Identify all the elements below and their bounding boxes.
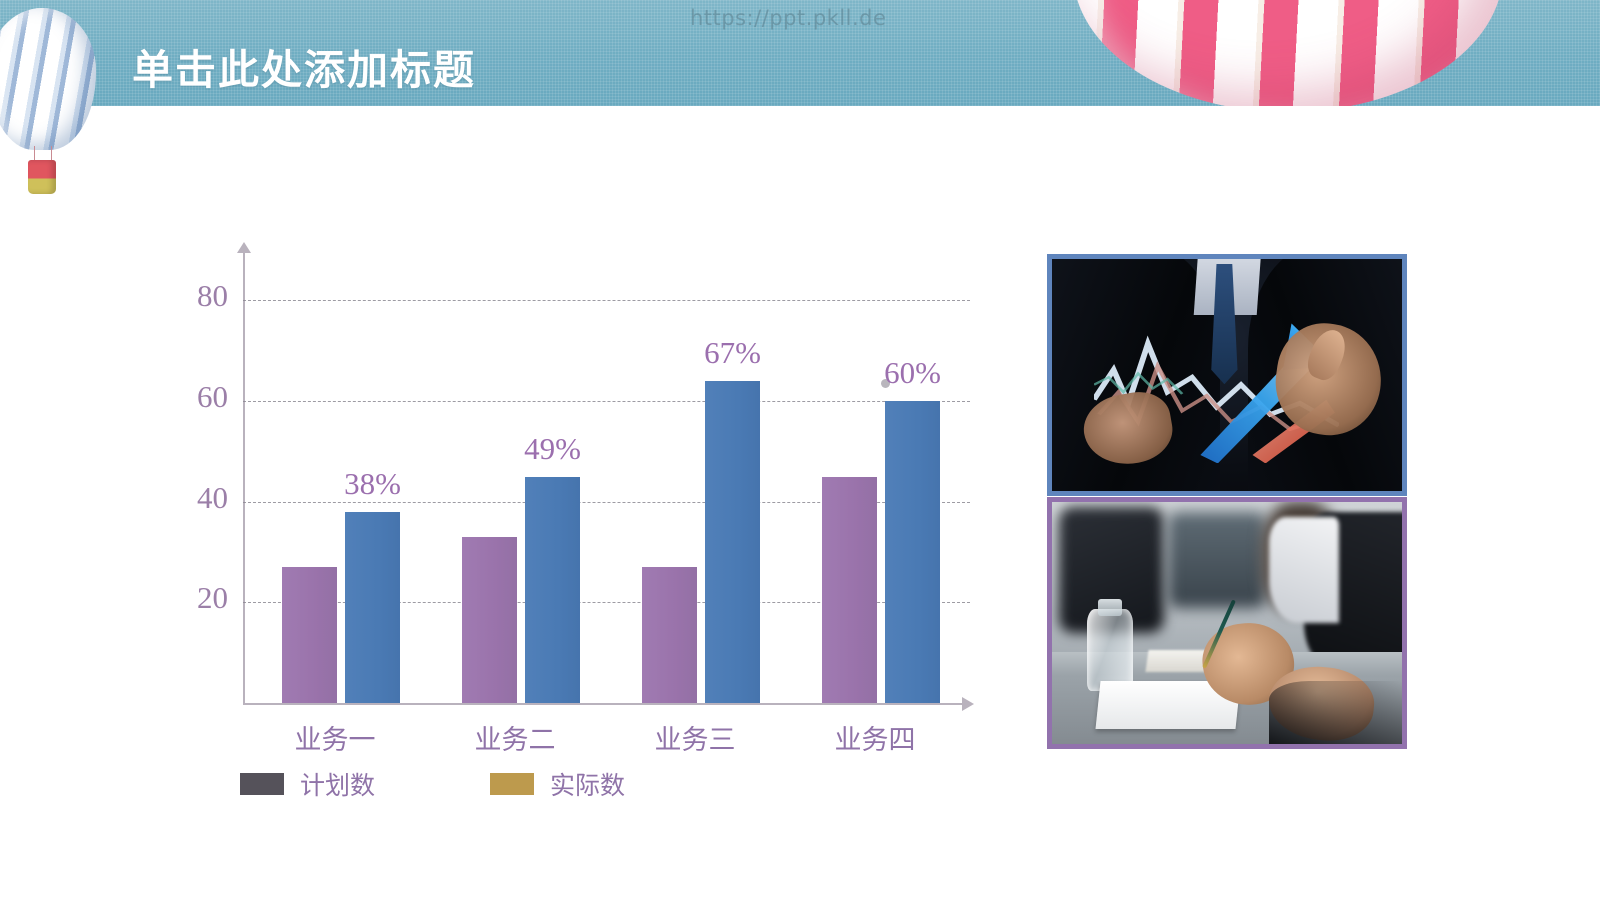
hot-air-balloon-blue-icon <box>0 8 108 198</box>
header-band: https://ppt.pkll.de 单击此处添加标题 <box>0 0 1600 106</box>
photo-bottom-shirt <box>1269 517 1339 623</box>
legend-item-2[interactable]: 实际数 <box>490 766 625 802</box>
x-category-label-1: 业务一 <box>245 718 425 757</box>
bar-data-label-4: 60% <box>871 355 954 391</box>
bar-plan-1[interactable] <box>282 567 337 703</box>
slide-canvas: https://ppt.pkll.de 单击此处添加标题 20406080 业务… <box>0 0 1600 900</box>
bar-actual-3[interactable] <box>705 381 760 703</box>
bar-actual-1[interactable] <box>345 512 400 703</box>
photo-bottom-shadow <box>1269 681 1402 744</box>
y-tick-label: 80 <box>158 278 228 314</box>
photo-bottom-blur-figure-2 <box>1168 512 1266 609</box>
legend-item-1[interactable]: 计划数 <box>240 766 375 802</box>
legend-label-1: 计划数 <box>300 766 375 802</box>
page-title[interactable]: 单击此处添加标题 <box>132 36 476 96</box>
photo-top-content <box>1052 259 1402 491</box>
bar-data-label-1: 38% <box>331 466 414 502</box>
bar-plan-2[interactable] <box>462 537 517 703</box>
bar-data-label-3: 67% <box>691 335 774 371</box>
photo-bottom-content <box>1052 502 1402 744</box>
balloon-basket <box>28 160 56 194</box>
y-tick-label: 40 <box>158 480 228 516</box>
photo-bottom-glass-neck <box>1098 599 1123 616</box>
photo-business-chart[interactable] <box>1047 254 1407 496</box>
bar-plan-4[interactable] <box>822 477 877 704</box>
photo-business-meeting[interactable] <box>1047 497 1407 749</box>
x-category-label-2: 业务二 <box>425 718 605 757</box>
x-category-label-4: 业务四 <box>785 718 965 757</box>
x-category-label-3: 业务三 <box>605 718 785 757</box>
legend-label-2: 实际数 <box>550 766 625 802</box>
bar-chart[interactable]: 20406080 业务一业务二业务三业务四 38%49%67%60% <box>150 240 1000 800</box>
y-tick-label: 60 <box>158 379 228 415</box>
x-axis-line <box>243 703 965 705</box>
bar-actual-2[interactable] <box>525 477 580 704</box>
hot-air-balloon-pink-icon <box>1073 0 1503 106</box>
bar-actual-4[interactable] <box>885 401 940 703</box>
legend-swatch-1 <box>240 773 284 795</box>
y-tick-label: 20 <box>158 580 228 616</box>
bar-data-label-2: 49% <box>511 431 594 467</box>
photo-bottom-water-glass <box>1087 609 1133 691</box>
bar-plan-3[interactable] <box>642 567 697 703</box>
watermark-text: https://ppt.pkll.de <box>690 6 886 30</box>
legend-swatch-2 <box>490 773 534 795</box>
balloon-envelope <box>0 8 96 150</box>
